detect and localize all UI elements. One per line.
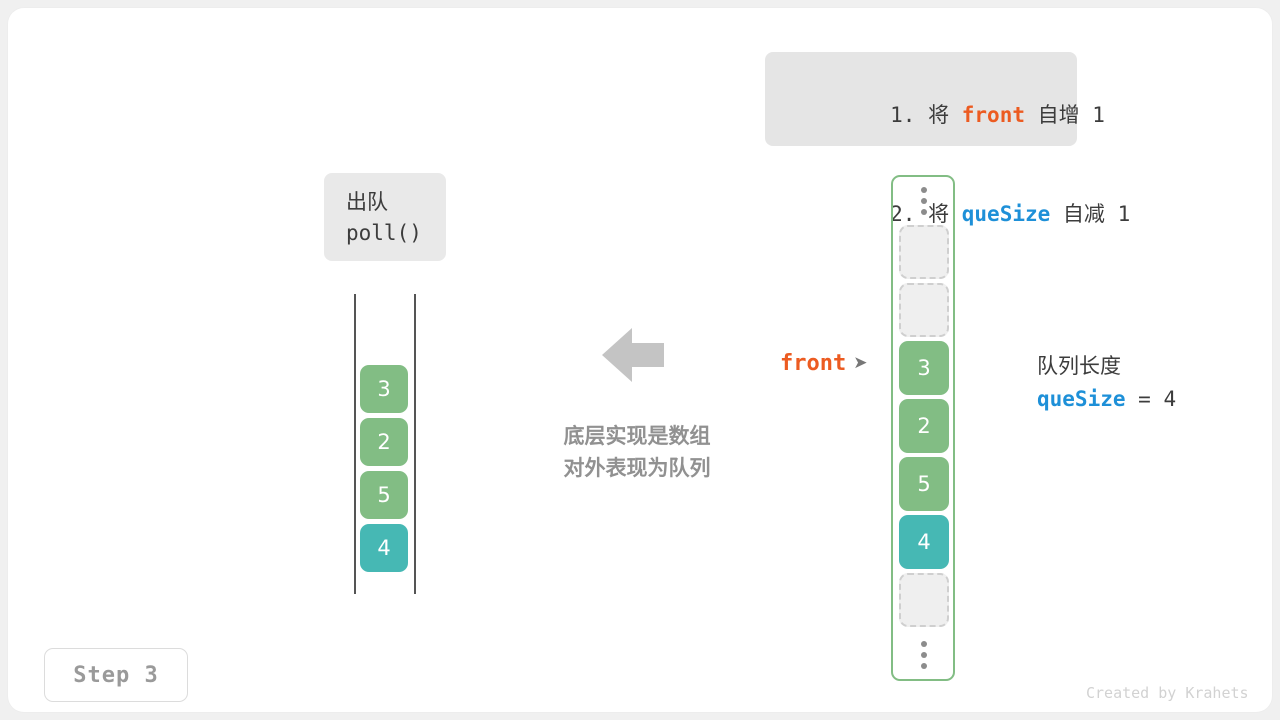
arrow-right-icon: ➤ bbox=[853, 355, 867, 372]
left-cell: 2 bbox=[360, 418, 408, 466]
array-slot: 4 bbox=[899, 515, 949, 569]
vertical-dots-icon-bottom bbox=[899, 631, 949, 679]
array-slot-empty bbox=[899, 225, 949, 279]
array-slot: 5 bbox=[899, 457, 949, 511]
quesize-note-title: 队列长度 bbox=[1037, 350, 1176, 382]
quesize-equals: = bbox=[1126, 387, 1164, 411]
front-pointer: front ➤ bbox=[780, 351, 867, 376]
center-caption: 底层实现是数组 对外表现为队列 bbox=[537, 420, 737, 484]
quesize-variable: queSize bbox=[1037, 387, 1126, 411]
right-rail bbox=[414, 294, 416, 594]
left-cell: 3 bbox=[360, 365, 408, 413]
array-slot-empty bbox=[899, 573, 949, 627]
instruction-1-keyword: front bbox=[962, 103, 1025, 127]
operation-method: poll() bbox=[346, 217, 446, 249]
left-cell: 4 bbox=[360, 524, 408, 572]
right-array-slots: 3 2 5 4 bbox=[899, 177, 949, 679]
quesize-note-expression: queSize = 4 bbox=[1037, 382, 1176, 416]
left-queue-view: 3 2 5 4 bbox=[354, 294, 416, 594]
instruction-2-keyword: queSize bbox=[962, 202, 1051, 226]
left-rail bbox=[354, 294, 356, 594]
left-arrow-icon bbox=[602, 328, 664, 382]
instruction-2-post: 自减 1 bbox=[1050, 202, 1130, 226]
array-slot-empty bbox=[899, 283, 949, 337]
instruction-line-1: 1. 将 front 自增 1 bbox=[789, 66, 1053, 165]
center-caption-line-2: 对外表现为队列 bbox=[537, 452, 737, 484]
instruction-1-post: 自增 1 bbox=[1025, 103, 1105, 127]
diagram-card: 1. 将 front 自增 1 2. 将 queSize 自减 1 出队 pol… bbox=[8, 8, 1272, 712]
center-caption-line-1: 底层实现是数组 bbox=[537, 420, 737, 452]
vertical-dots-icon-top bbox=[899, 177, 949, 225]
step-badge: Step 3 bbox=[44, 648, 188, 702]
front-pointer-label: front bbox=[780, 351, 846, 376]
quesize-note: 队列长度 queSize = 4 bbox=[1037, 350, 1176, 416]
quesize-value: 4 bbox=[1163, 387, 1176, 411]
instruction-1-index: 1. bbox=[890, 103, 915, 127]
diagram-canvas: 1. 将 front 自增 1 2. 将 queSize 自减 1 出队 pol… bbox=[0, 0, 1280, 720]
credit-text: Created by Krahets bbox=[1086, 684, 1249, 702]
left-queue-cells: 3 2 5 4 bbox=[360, 365, 408, 577]
operation-title: 出队 bbox=[346, 187, 446, 217]
array-slot: 2 bbox=[899, 399, 949, 453]
instruction-panel: 1. 将 front 自增 1 2. 将 queSize 自减 1 bbox=[765, 52, 1077, 146]
operation-label-box: 出队 poll() bbox=[324, 173, 446, 261]
right-array-view: 3 2 5 4 bbox=[891, 175, 955, 681]
step-badge-label: Step 3 bbox=[73, 663, 158, 688]
left-cell: 5 bbox=[360, 471, 408, 519]
array-slot: 3 bbox=[899, 341, 949, 395]
instruction-1-pre: 将 bbox=[928, 103, 962, 127]
